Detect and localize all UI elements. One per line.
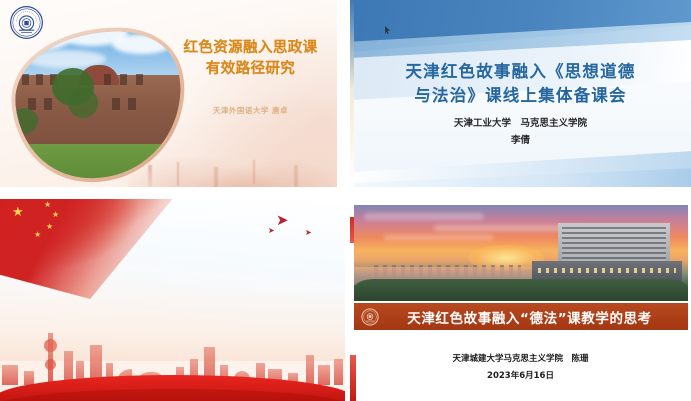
dove-icon: ➤ [268,227,275,235]
slide-title-line-2: 有效路径研究 [168,59,333,80]
slide-left-edge [350,0,354,187]
dove-icon: ➤ [276,213,289,228]
slide-affiliation: 天津城建大学马克思主义学院 陈珊 [350,351,691,368]
banner-title-text: 天津红色故事融入“德法”课教学的思考 [379,307,688,327]
flag-star-icon: ★ [44,201,51,209]
dove-icon: ➤ [305,229,312,237]
flag-star-icon: ★ [12,205,24,218]
slide-presenter-name: 李倩 [364,133,677,150]
slide-thumbnail-1[interactable]: 红色资源融入思政课 有效路径研究 天津外国语大学 唐卓 [0,0,337,187]
slide-title-line-1: 天津红色故事融入《思想道德 [364,60,677,84]
slide-thumbnail-grid: 红色资源融入思政课 有效路径研究 天津外国语大学 唐卓 天津红色故事融入《思想道… [0,0,691,401]
slide-author: 天津外国语大学 唐卓 [168,105,333,116]
slide-subtitle: 天津城建大学马克思主义学院 陈珊 2023年6月16日 [350,351,691,384]
flag-star-icon: ★ [52,211,59,219]
slide-title: 天津红色故事融入《思想道德 与法治》课线上集体备课会 [364,60,677,109]
university-seal-icon [9,5,44,40]
slide-subtitle: 天津工业大学 马克思主义学院 李倩 [364,116,677,149]
flag-star-icon: ★ [34,231,41,239]
slide-date: 2023年6月16日 [350,368,691,385]
campus-sunset-photo [354,205,688,301]
slide-title: 红色资源融入思政课 有效路径研究 [168,38,333,79]
slide-title-banner: 天津红色故事融入“德法”课教学的思考 [354,303,688,330]
slide-thumbnail-2[interactable]: 天津红色故事融入《思想道德 与法治》课线上集体备课会 天津工业大学 马克思主义学… [350,0,691,187]
university-seal-icon [361,308,379,326]
slide-thumbnail-3[interactable]: ★ ★ ★ ★ ★ ➤ ➤ ➤ [0,199,345,401]
slide-affiliation: 天津工业大学 马克思主义学院 [364,116,677,133]
slide-title-line-2: 与法治》课线上集体备课会 [364,84,677,108]
flag-star-icon: ★ [46,223,53,231]
slide-title-line-1: 红色资源融入思政课 [168,38,333,59]
slide-thumbnail-4[interactable]: 天津红色故事融入“德法”课教学的思考 天津城建大学马克思主义学院 陈珊 2023… [350,199,691,401]
